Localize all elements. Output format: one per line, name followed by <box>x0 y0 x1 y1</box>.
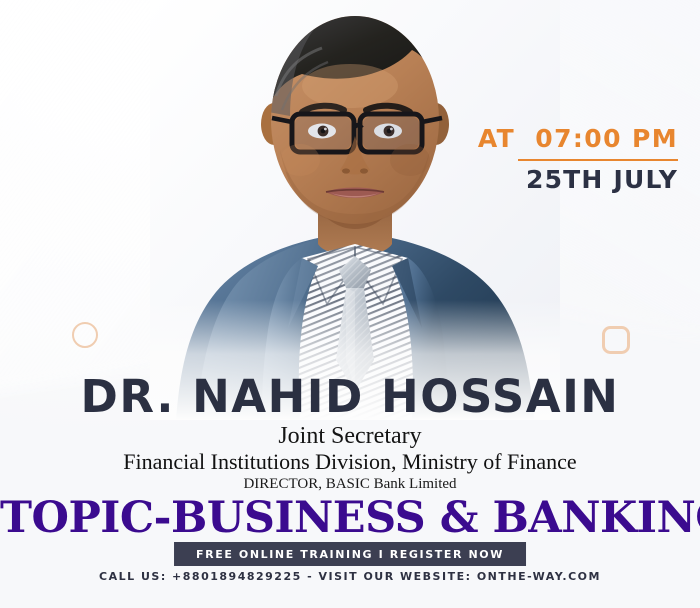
schedule-divider <box>518 159 678 161</box>
event-time: AT 07:00 PM <box>458 126 678 152</box>
schedule-block: AT 07:00 PM 25TH JULY <box>458 126 678 194</box>
speaker-role: Joint Secretary <box>0 424 700 448</box>
contact-line: CALL US: +8801894829225 - VISIT OUR WEBS… <box>0 570 700 583</box>
speaker-department: Financial Institutions Division, Ministr… <box>0 451 700 473</box>
register-badge[interactable]: FREE ONLINE TRAINING I REGISTER NOW <box>174 542 526 566</box>
event-date: 25TH JULY <box>458 167 678 193</box>
speaker-name: DR. NAHID HOSSAIN <box>0 374 700 419</box>
speaker-director-line: DIRECTOR, BASIC Bank Limited <box>0 477 700 492</box>
speaker-photo <box>150 0 560 420</box>
promo-poster: AT 07:00 PM 25TH JULY DR. NAHID HOSSAIN … <box>0 0 700 608</box>
event-topic: TOPIC-BUSINESS & BANKING <box>0 497 700 540</box>
